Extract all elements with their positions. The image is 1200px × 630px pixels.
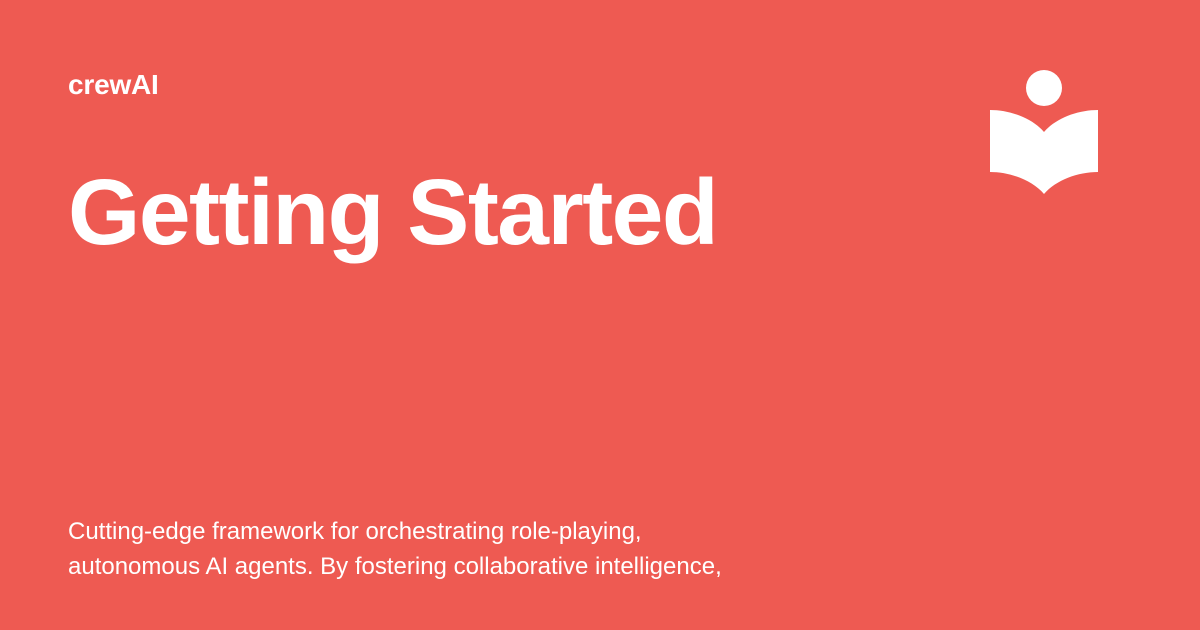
page-description: Cutting-edge framework for orchestrating… [68,514,888,584]
brand-logo-text: crewAI [68,71,159,99]
og-card: crewAI Getting Started Cutting-edge fram… [0,0,1200,630]
description-line-1: Cutting-edge framework for orchestrating… [68,514,888,549]
open-book-shape [990,110,1098,194]
book-reader-icon [988,66,1100,198]
page-title: Getting Started [68,166,717,259]
reader-head-shape [1026,70,1062,106]
description-line-2: autonomous AI agents. By fostering colla… [68,549,888,584]
